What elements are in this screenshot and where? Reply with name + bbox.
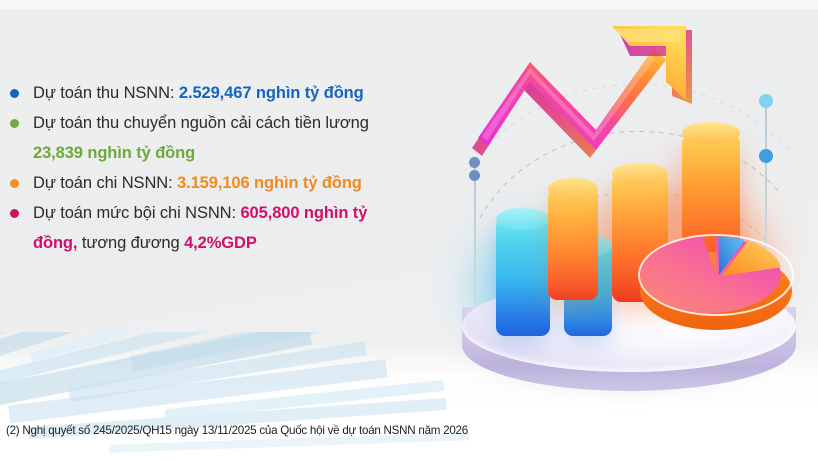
bullet-value-deficit: 605,800 nghìn tỷ bbox=[240, 204, 367, 222]
bullet-dot-salary-icon bbox=[10, 119, 19, 128]
bullet-label-deficit: Dự toán mức bội chi NSNN: bbox=[33, 204, 240, 222]
bullet-value-deficit-continued: đồng, tương đương 4,2%GDP bbox=[33, 232, 460, 255]
list-item: Dự toán chi NSNN: 3.159,106 nghìn tỷ đồn… bbox=[10, 172, 460, 195]
right-marker-dot-upper-icon bbox=[759, 94, 773, 108]
pie-chart-top bbox=[640, 236, 792, 314]
list-item: Dự toán thu NSNN: 2.529,467 nghìn tỷ đồn… bbox=[10, 82, 460, 105]
bullet-text-salary: Dự toán thu chuyển nguồn cải cách tiền l… bbox=[33, 112, 369, 135]
footnote-text: (2) Nghị quyết số 245/2025/QH15 ngày 13/… bbox=[6, 424, 468, 437]
list-item: Dự toán thu chuyển nguồn cải cách tiền l… bbox=[10, 112, 460, 135]
bullet-dot-deficit-icon bbox=[10, 209, 19, 218]
growth-chart-illustration bbox=[440, 18, 818, 400]
bullet-text-deficit: Dự toán mức bội chi NSNN: 605,800 nghìn … bbox=[33, 202, 367, 225]
bullet-value-revenue: 2.529,467 nghìn tỷ đồng bbox=[179, 84, 364, 102]
bullet-value-salary: 23,839 nghìn tỷ đồng bbox=[33, 142, 460, 165]
bullet-text-expense: Dự toán chi NSNN: 3.159,106 nghìn tỷ đồn… bbox=[33, 172, 362, 195]
deficit-unit: đồng, bbox=[33, 234, 77, 252]
pie-slices bbox=[640, 236, 792, 314]
pie-chart-3d bbox=[636, 224, 796, 344]
bullet-dot-revenue-icon bbox=[10, 89, 19, 98]
arrow-svg bbox=[462, 24, 722, 214]
deficit-gdp-percent: 4,2%GDP bbox=[184, 234, 257, 252]
deficit-equivalent-label: tương đương bbox=[77, 234, 184, 252]
infographic-canvas: Dự toán thu NSNN: 2.529,467 nghìn tỷ đồn… bbox=[0, 0, 818, 460]
right-marker-dot-lower-icon bbox=[759, 149, 773, 163]
bullet-label-expense: Dự toán chi NSNN: bbox=[33, 174, 177, 192]
bullet-dot-expense-icon bbox=[10, 179, 19, 188]
bar-blue-1 bbox=[496, 218, 550, 336]
upward-trend-arrow-icon bbox=[462, 24, 722, 214]
list-item: Dự toán mức bội chi NSNN: 605,800 nghìn … bbox=[10, 202, 460, 225]
bullet-label-revenue: Dự toán thu NSNN: bbox=[33, 84, 179, 102]
bullet-value-expense: 3.159,106 nghìn tỷ đồng bbox=[177, 174, 362, 192]
bullet-list: Dự toán thu NSNN: 2.529,467 nghìn tỷ đồn… bbox=[10, 82, 460, 262]
text-panel: Dự toán thu NSNN: 2.529,467 nghìn tỷ đồn… bbox=[0, 0, 470, 460]
bullet-text-revenue: Dự toán thu NSNN: 2.529,467 nghìn tỷ đồn… bbox=[33, 82, 364, 105]
